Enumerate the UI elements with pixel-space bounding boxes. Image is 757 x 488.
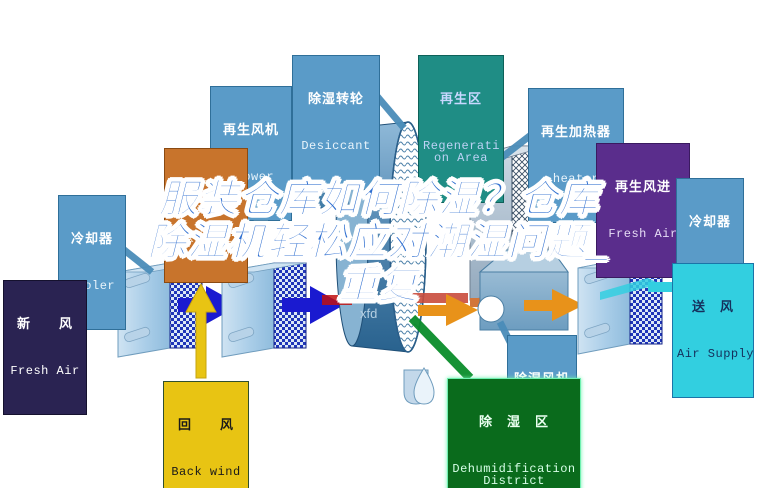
- label-regeneration-blower-cn: 再生风机: [215, 123, 287, 137]
- label-exhaust-cn: 再生风出: [169, 185, 243, 199]
- label-regeneration-area-cn: 再生区: [423, 92, 499, 106]
- label-exhaust: 再生风出 Exhaust: [164, 148, 248, 283]
- label-back-wind-cn: 回 风: [168, 418, 244, 432]
- label-back-wind: 回 风 Back wind: [163, 381, 249, 488]
- screenshot-root: xfd 除湿转轮 Desiccant 再生风机 Blower 再生区 Regen…: [0, 0, 757, 488]
- label-desiccant-wheel-en: Desiccant: [297, 140, 375, 153]
- label-regeneration-area: 再生区 Regenerati on Area: [418, 55, 504, 203]
- label-dehumidification-district: 除 湿 区 Dehumidification District: [447, 378, 581, 488]
- label-dehumidification-district-cn: 除 湿 区: [452, 415, 576, 429]
- label-regeneration-fresh-air-en: Fresh Air: [601, 228, 685, 241]
- watermark-text: xfd: [360, 306, 377, 321]
- label-dehumidification-district-en: Dehumidification District: [452, 463, 576, 488]
- label-cooler-left-cn: 冷却器: [63, 232, 121, 246]
- label-back-wind-en: Back wind: [168, 466, 244, 479]
- label-regeneration-heater-cn: 再生加热器: [533, 125, 619, 139]
- label-air-supply-cn: 送 风: [677, 300, 749, 314]
- label-cooler-right-cn: 冷却器: [681, 215, 739, 229]
- label-fresh-air-inlet-en: Fresh Air: [8, 365, 82, 378]
- label-air-supply: 送 风 Air Supply: [672, 263, 754, 398]
- label-desiccant-wheel: 除湿转轮 Desiccant: [292, 55, 380, 190]
- label-regeneration-fresh-air-cn: 再生风进: [601, 180, 685, 194]
- label-air-supply-en: Air Supply: [677, 348, 749, 361]
- label-exhaust-en: Exhaust: [169, 233, 243, 246]
- label-regeneration-area-en: Regenerati on Area: [423, 140, 499, 165]
- label-fresh-air-inlet: 新 风 Fresh Air: [3, 280, 87, 415]
- condensate-drop: [404, 368, 434, 404]
- label-desiccant-wheel-cn: 除湿转轮: [297, 92, 375, 106]
- label-fresh-air-inlet-cn: 新 风: [8, 317, 82, 331]
